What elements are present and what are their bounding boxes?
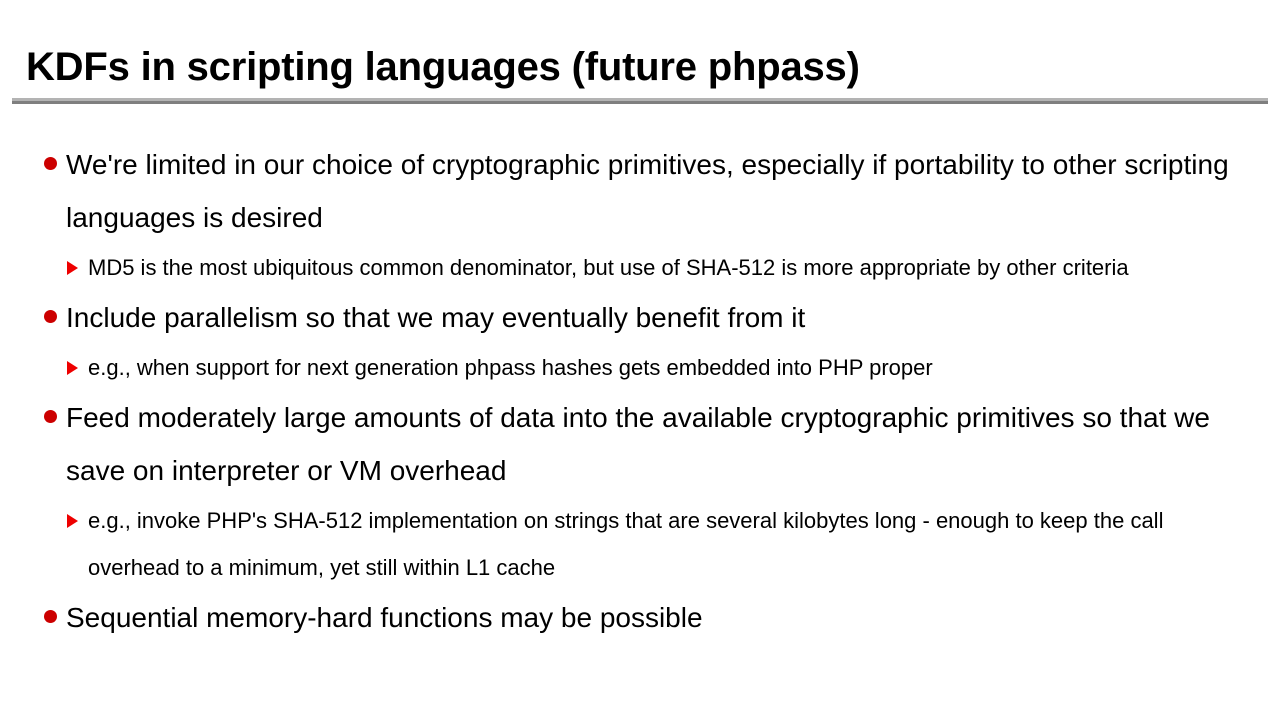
triangle-bullet-icon [67,361,78,375]
disc-bullet-icon [44,610,57,623]
sub-bullet-item: MD5 is the most ubiquitous common denomi… [0,244,1280,291]
triangle-bullet-icon [67,514,78,528]
disc-bullet-icon [44,310,57,323]
bullet-text: Feed moderately large amounts of data in… [66,391,1240,497]
bullet-text: Sequential memory-hard functions may be … [66,591,1240,644]
bullet-item: We're limited in our choice of cryptogra… [0,138,1280,244]
bullet-item: Feed moderately large amounts of data in… [0,391,1280,497]
disc-bullet-icon [44,410,57,423]
disc-bullet-icon [44,157,57,170]
sub-bullet-text: e.g., invoke PHP's SHA-512 implementatio… [88,497,1220,591]
sub-bullet-item: e.g., when support for next generation p… [0,344,1280,391]
bullet-text: We're limited in our choice of cryptogra… [66,138,1240,244]
sub-bullet-text: e.g., when support for next generation p… [88,344,1220,391]
page-title: KDFs in scripting languages (future phpa… [26,42,1256,92]
title-divider-shadow [12,101,1268,104]
sub-bullet-item: e.g., invoke PHP's SHA-512 implementatio… [0,497,1280,591]
triangle-bullet-icon [67,261,78,275]
sub-bullet-text: MD5 is the most ubiquitous common denomi… [88,244,1220,291]
presentation-slide: KDFs in scripting languages (future phpa… [0,0,1280,720]
title-divider [12,98,1268,104]
bullet-item: Include parallelism so that we may event… [0,291,1280,344]
slide-body: We're limited in our choice of cryptogra… [0,138,1280,644]
bullet-text: Include parallelism so that we may event… [66,291,1240,344]
bullet-item: Sequential memory-hard functions may be … [0,591,1280,644]
